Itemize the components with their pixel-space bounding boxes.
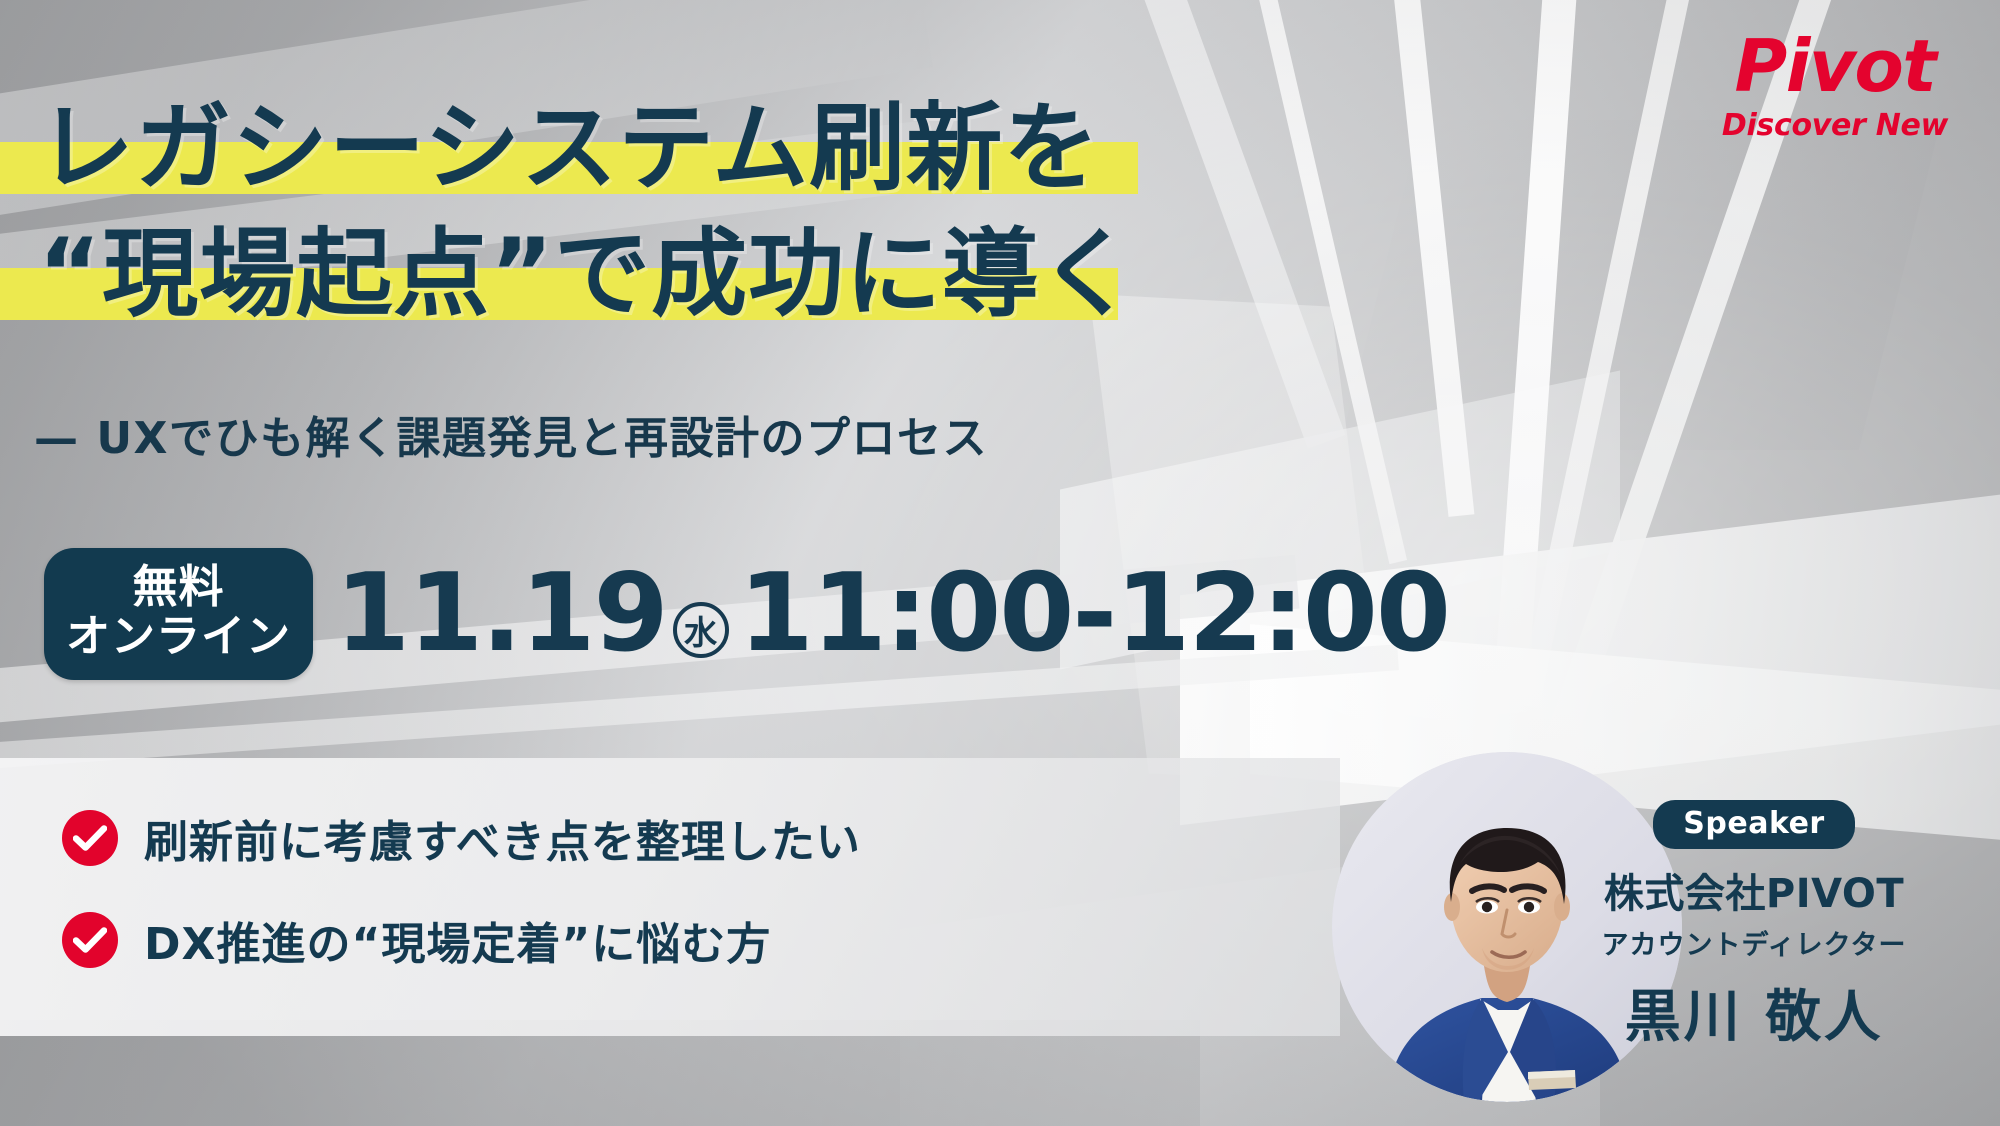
speaker-role: アカウントディレクター: [1544, 923, 1964, 962]
logo-wordmark: Pivot: [1722, 30, 1948, 102]
headline-line-1: レガシーシステム刷新を: [38, 78, 1458, 200]
speaker-company-name: 株式会社PIVOT: [1544, 861, 1964, 919]
event-datetime: 11.19 水 11:00-12:00: [335, 560, 1449, 668]
headline-block: レガシーシステム刷新を “現場起点”で成功に導く: [38, 78, 1458, 330]
check-circle-icon: [62, 810, 118, 866]
bullet-text: 刷新前に考慮すべき点を整理したい: [144, 806, 861, 870]
logo-tagline: Discover New: [1722, 108, 1948, 143]
headline-line-2: “現場起点”で成功に導く: [38, 204, 1458, 326]
headline-text-1: レガシーシステム刷新を: [38, 98, 1100, 200]
list-item: DX推進の“現場定着”に悩む方: [62, 908, 1062, 972]
pivot-logo: Pivot Discover New: [1722, 30, 1948, 143]
speaker-info: Speaker 株式会社PIVOT アカウントディレクター 黒川 敬人: [1544, 800, 1964, 1053]
speaker-person-name: 黒川 敬人: [1544, 972, 1964, 1053]
event-date: 11.19: [335, 560, 667, 668]
bullet-text: DX推進の“現場定着”に悩む方: [144, 908, 771, 972]
free-online-badge: 無料 オンライン: [44, 548, 313, 680]
event-time: 11:00-12:00: [739, 560, 1449, 668]
headline-subtitle: — UXでひも解く課題発見と再設計のプロセス: [34, 402, 988, 466]
webinar-banner: Pivot Discover New レガシーシステム刷新を “現場起点”で成功…: [0, 0, 2000, 1126]
event-date-row: 無料 オンライン 11.19 水 11:00-12:00: [44, 548, 1449, 680]
headline-text-2: “現場起点”で成功に導く: [38, 224, 1136, 326]
speaker-badge: Speaker: [1653, 800, 1854, 849]
free-badge-line-2: オンライン: [66, 612, 291, 661]
list-item: 刷新前に考慮すべき点を整理したい: [62, 806, 1062, 870]
bullet-list: 刷新前に考慮すべき点を整理したい DX推進の“現場定着”に悩む方: [62, 806, 1062, 1010]
free-badge-line-1: 無料: [66, 562, 291, 612]
check-circle-icon: [62, 912, 118, 968]
day-of-week-badge: 水: [673, 602, 729, 658]
